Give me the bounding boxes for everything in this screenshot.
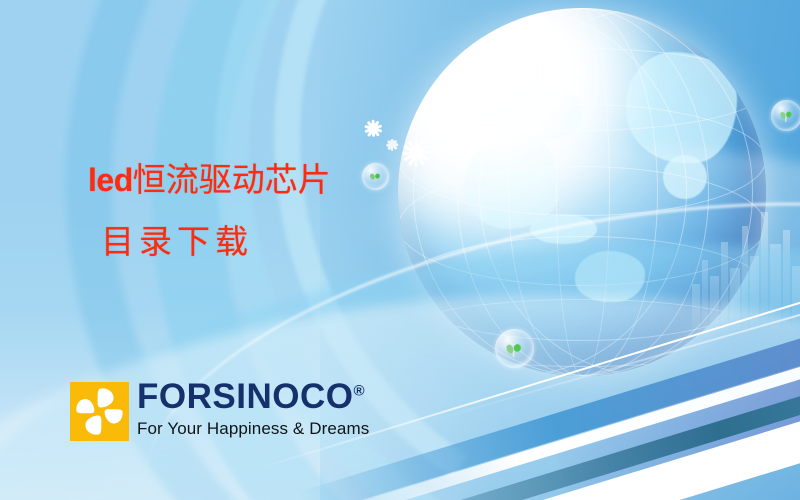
brand-logo: FORSINOCO® For Your Happiness & Dreams: [70, 382, 369, 441]
headline-line-2: 目录下载: [101, 225, 428, 258]
brand-name: FORSINOCO®: [137, 379, 369, 414]
sprout-icon: [505, 341, 524, 359]
sparkle-icon: [386, 142, 398, 154]
logo-text-block: FORSINOCO® For Your Happiness & Dreams: [137, 379, 369, 437]
bubble-with-sprout-icon: [771, 100, 800, 131]
brand-word: FORSINOCO: [137, 377, 353, 416]
bubble-with-sprout-icon: [495, 329, 534, 368]
headline-cjk: 恒流驱动芯片: [133, 160, 331, 199]
brand-tagline: For Your Happiness & Dreams: [137, 420, 369, 437]
sparkle-icon: [365, 124, 382, 141]
banner-image: led恒流驱动芯片 目录下载 FORSINOCO® For Your Happi…: [0, 0, 800, 500]
flower-petals: [70, 382, 129, 441]
sprout-icon: [779, 109, 794, 123]
page-title: led恒流驱动芯片 目录下载: [88, 163, 428, 258]
headline-line-1: led恒流驱动芯片: [88, 163, 428, 196]
registered-trademark-icon: ®: [353, 382, 364, 399]
headline-latin: led: [88, 162, 133, 198]
four-petal-flower-icon: [70, 382, 129, 441]
